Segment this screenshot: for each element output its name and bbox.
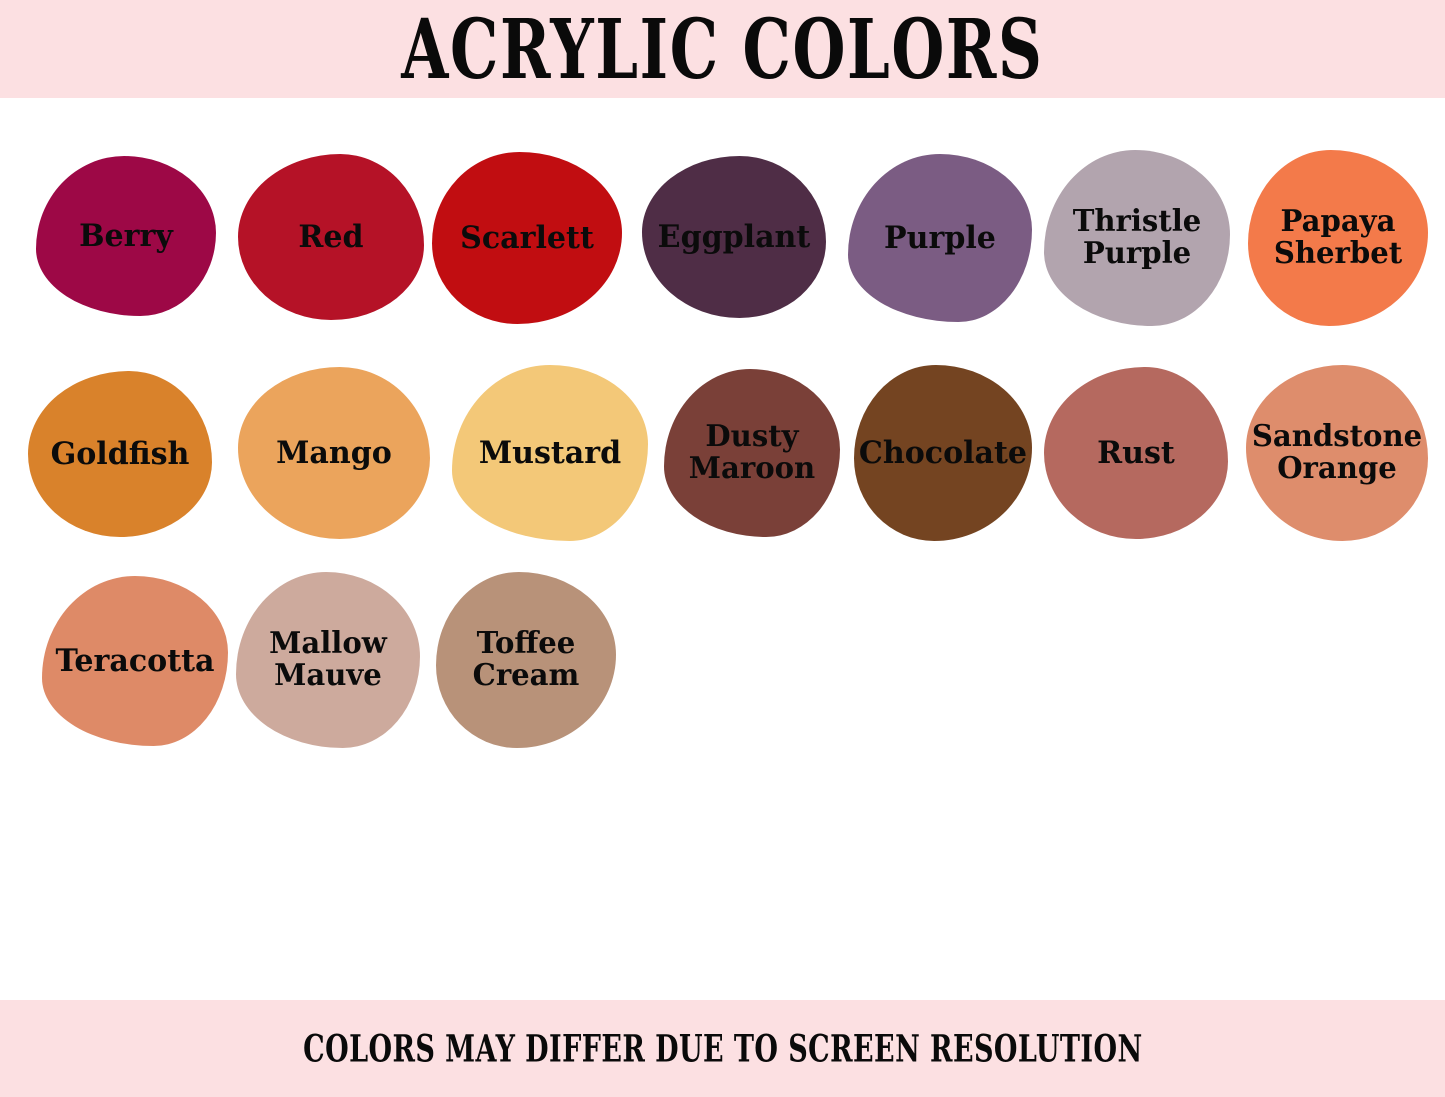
swatch-label-thristle-purple: Thristle Purple [1047, 206, 1227, 270]
swatch-label-papaya-sherbet: Papaya Sherbet [1251, 206, 1426, 270]
color-swatch-thristle-purple[interactable]: Thristle Purple [1044, 150, 1230, 326]
color-swatch-chocolate[interactable]: Chocolate [854, 365, 1032, 541]
color-swatch-red[interactable]: Red [238, 154, 424, 320]
color-swatch-mustard[interactable]: Mustard [452, 365, 648, 541]
page-title: ACRYLIC COLORS [401, 9, 1043, 91]
swatch-label-scarlett: Scarlett [435, 222, 619, 255]
swatch-label-chocolate: Chocolate [857, 437, 1030, 470]
swatch-label-goldfish: Goldfish [31, 438, 209, 471]
swatch-row-1: BerryRedScarlettEggplantPurpleThristle P… [0, 146, 1445, 361]
color-swatch-scarlett[interactable]: Scarlett [432, 152, 622, 324]
disclaimer-text: COLORS MAY DIFFER DUE TO SCREEN RESOLUTI… [303, 1030, 1142, 1067]
color-swatch-mallow-mauve[interactable]: Mallow Mauve [236, 572, 420, 748]
swatch-label-dusty-maroon: Dusty Maroon [667, 421, 838, 485]
swatch-label-toffee-cream: Toffee Cream [439, 628, 614, 692]
color-swatch-toffee-cream[interactable]: Toffee Cream [436, 572, 616, 748]
color-swatch-mango[interactable]: Mango [238, 367, 430, 539]
swatch-label-mango: Mango [241, 437, 427, 470]
color-swatch-rust[interactable]: Rust [1044, 367, 1228, 539]
swatch-label-sandstone-orange: Sandstone Orange [1249, 421, 1426, 485]
swatch-label-teracotta: Teracotta [45, 645, 225, 678]
color-swatch-papaya-sherbet[interactable]: Papaya Sherbet [1248, 150, 1428, 326]
swatch-label-red: Red [241, 221, 421, 254]
swatch-row-3: TeracottaMallow MauveToffee Cream [0, 568, 1445, 783]
footer-bar: COLORS MAY DIFFER DUE TO SCREEN RESOLUTI… [0, 1000, 1445, 1097]
header-bar: ACRYLIC COLORS [0, 0, 1445, 98]
swatch-label-mallow-mauve: Mallow Mauve [239, 628, 417, 692]
color-swatch-goldfish[interactable]: Goldfish [28, 371, 212, 537]
color-swatch-berry[interactable]: Berry [36, 156, 216, 316]
swatch-row-2: GoldfishMangoMustardDusty MaroonChocolat… [0, 361, 1445, 576]
swatch-label-berry: Berry [39, 220, 214, 253]
color-swatch-dusty-maroon[interactable]: Dusty Maroon [664, 369, 840, 537]
color-swatch-grid: BerryRedScarlettEggplantPurpleThristle P… [0, 98, 1445, 1000]
swatch-label-purple: Purple [851, 222, 1029, 255]
color-swatch-sandstone-orange[interactable]: Sandstone Orange [1246, 365, 1428, 541]
color-swatch-eggplant[interactable]: Eggplant [642, 156, 826, 318]
color-swatch-teracotta[interactable]: Teracotta [42, 576, 228, 746]
swatch-label-eggplant: Eggplant [645, 221, 823, 254]
swatch-label-rust: Rust [1047, 437, 1225, 470]
color-swatch-purple[interactable]: Purple [848, 154, 1032, 322]
swatch-label-mustard: Mustard [455, 437, 645, 470]
